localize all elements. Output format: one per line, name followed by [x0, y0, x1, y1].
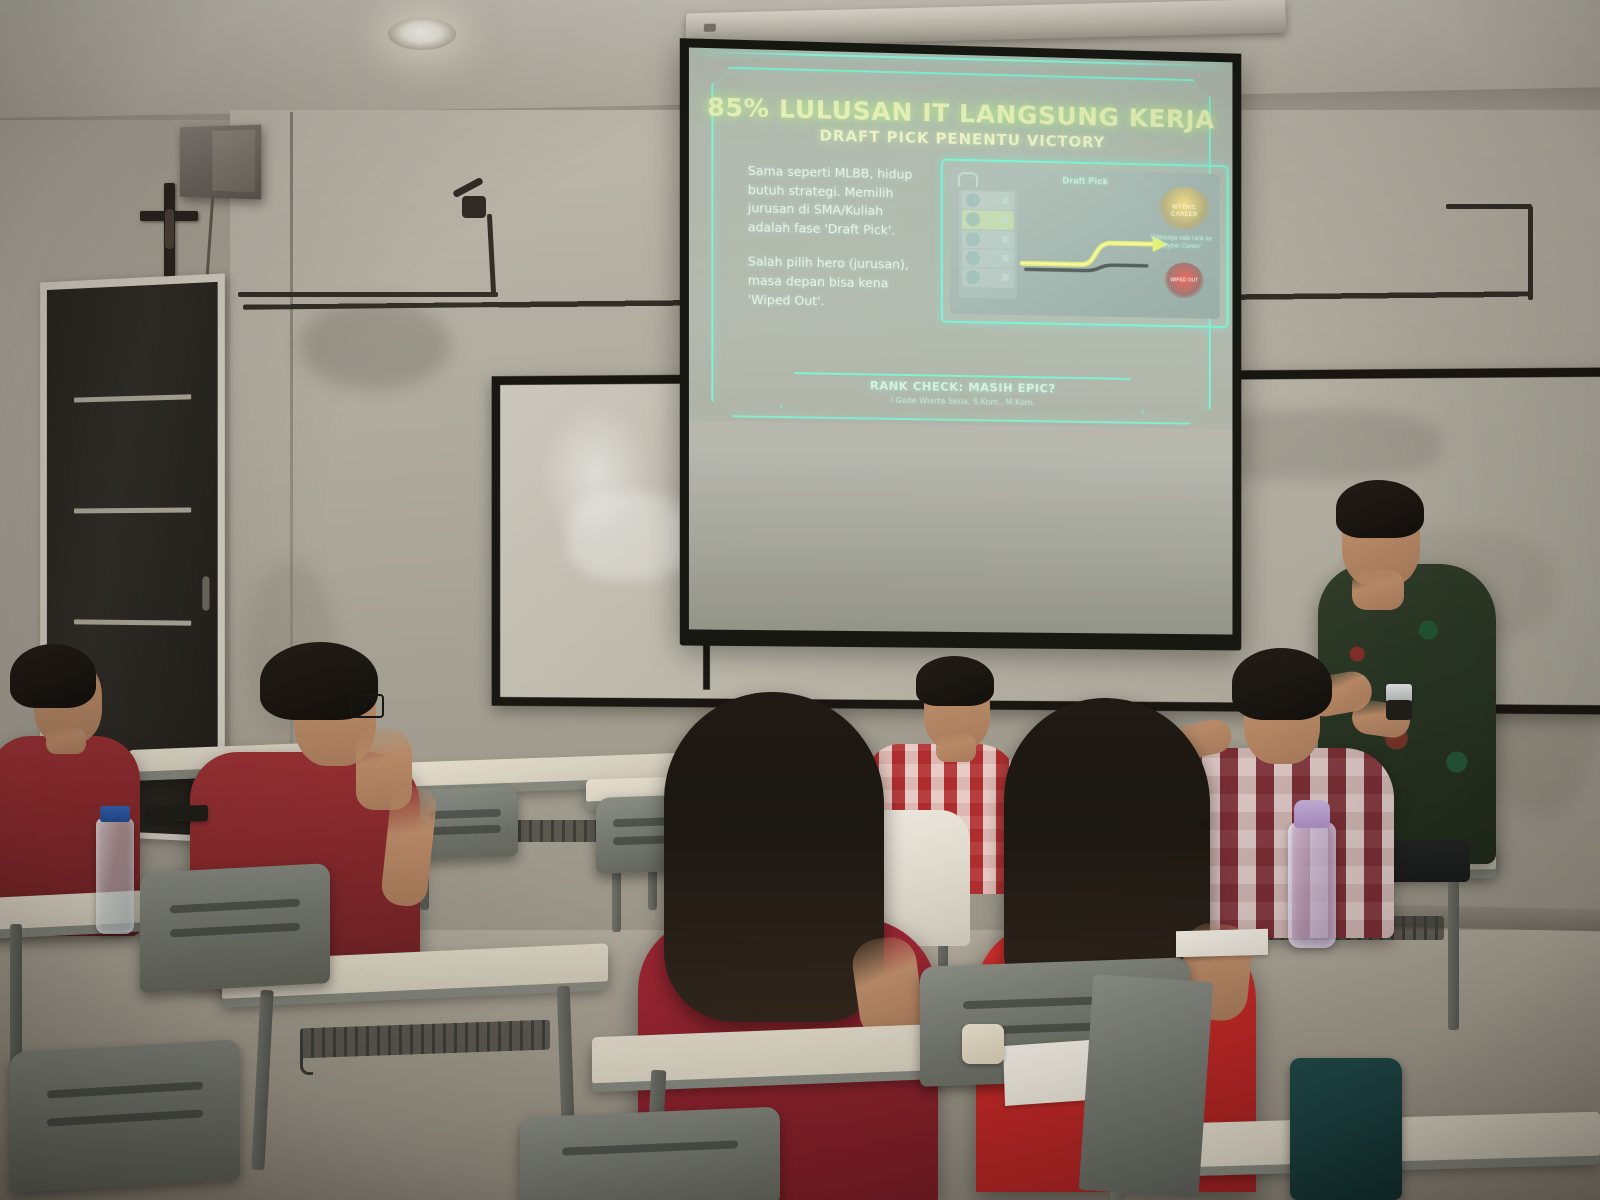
paper-sheet[interactable]: [1176, 929, 1268, 957]
presenter-hair: [1336, 480, 1424, 538]
phone[interactable]: [146, 805, 208, 823]
slide-body-text: Sama seperti MLBB, hidup butuh strategi.…: [748, 162, 929, 329]
desk-leg: [1448, 880, 1459, 1030]
student-neck: [46, 728, 86, 754]
projector-screen: 85% LULUSAN IT LANGSUNG KERJA DRAFT PICK…: [680, 38, 1242, 646]
cable-conduit: [1528, 206, 1533, 300]
bottle-cap-icon: [1294, 800, 1330, 828]
water-bottle-purple[interactable]: [1288, 822, 1336, 948]
wiped-out-badge-icon: WIPED OUT: [1165, 262, 1204, 299]
screen-lower-wash: [689, 406, 1233, 638]
presenter-neck: [1352, 570, 1404, 610]
desk-hook-icon: [300, 1050, 313, 1075]
presentation-slide: 85% LULUSAN IT LANGSUNG KERJA DRAFT PICK…: [689, 47, 1233, 429]
wall-camera-icon: [452, 178, 494, 218]
student-hair: [10, 644, 96, 708]
bottle-cap-icon: [100, 806, 130, 822]
cable-conduit: [1446, 204, 1532, 209]
mythic-career-badge-icon: MYTHIC CAREER: [1159, 187, 1210, 232]
ceiling-downlight-icon: [388, 18, 456, 50]
slide-paragraph-1: Sama seperti MLBB, hidup butuh strategi.…: [748, 162, 929, 241]
wiped-out-badge-label: WIPED OUT: [1165, 277, 1204, 284]
water-bottle-clear[interactable]: [96, 818, 134, 934]
slide-media-panel: Draft Pick: [941, 158, 1229, 328]
towel: [1079, 974, 1214, 1198]
classroom-scene: 85% LULUSAN IT LANGSUNG KERJA DRAFT PICK…: [0, 0, 1600, 1200]
hero-pick-list: [959, 190, 1017, 299]
mythic-career-caption: Waktunya naik rank ke 'Mythic Career': [1147, 234, 1216, 251]
student-long-hair: [664, 692, 884, 1022]
cable-conduit: [238, 292, 498, 297]
backpack[interactable]: [1290, 1058, 1402, 1200]
chair[interactable]: [520, 1107, 780, 1200]
student-front-left: [0, 640, 160, 930]
slide-paragraph-2: Salah pilih hero (jurusan), masa depan b…: [748, 253, 929, 313]
mythic-career-badge-label: MYTHIC CAREER: [1159, 204, 1210, 218]
chair[interactable]: [140, 863, 330, 993]
desk-item: [962, 1024, 1004, 1064]
glasses-icon: [350, 694, 384, 718]
chair[interactable]: [10, 1039, 240, 1193]
wall-stain: [300, 300, 450, 390]
